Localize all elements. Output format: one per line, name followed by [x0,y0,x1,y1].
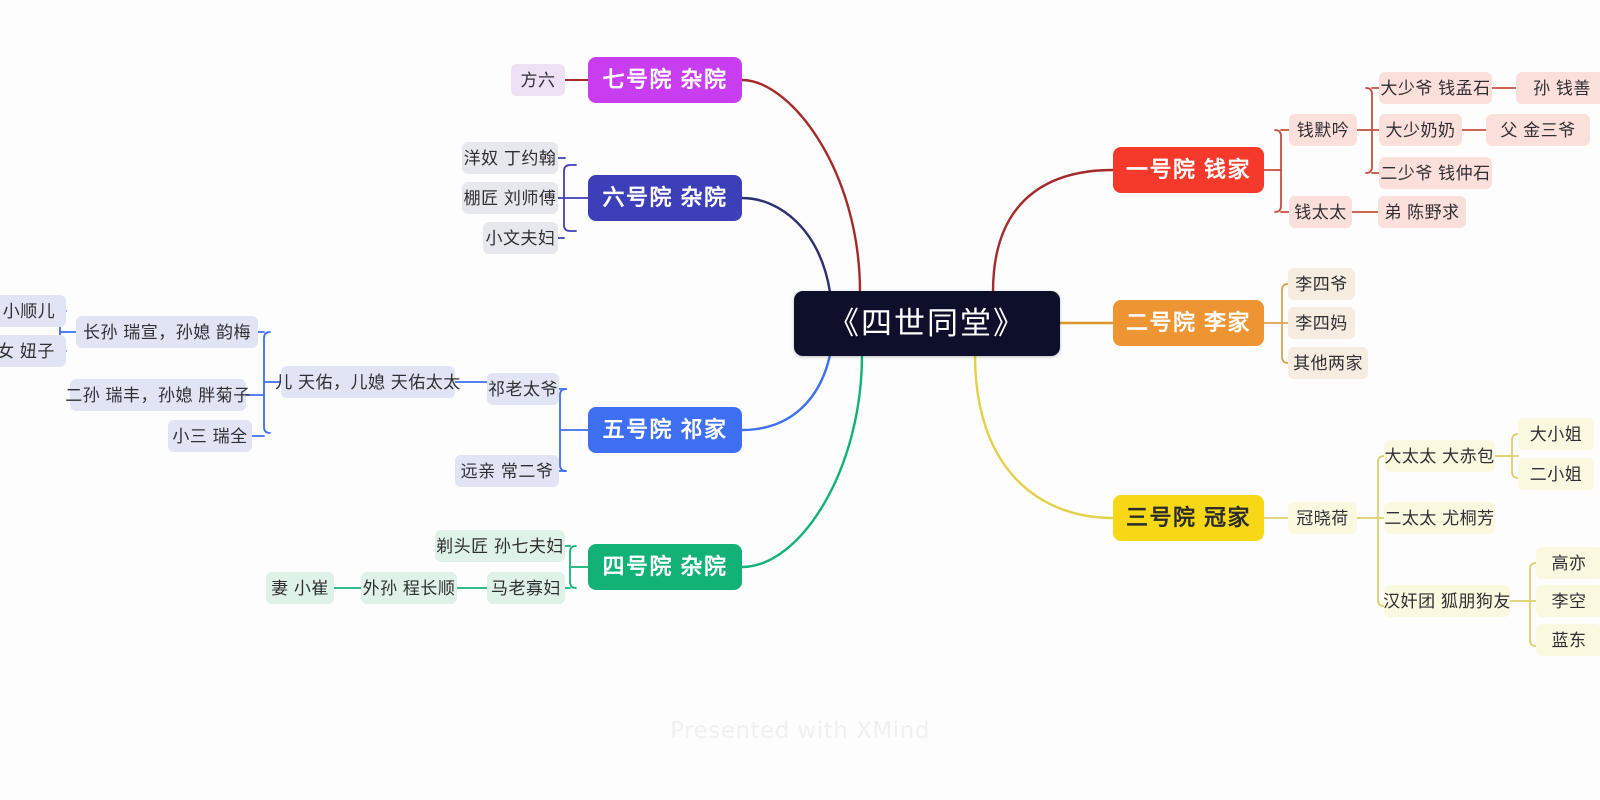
node-guan-xiaohe[interactable]: 冠晓荷 [1288,502,1357,534]
root-node[interactable]: 《四世同堂》 [794,291,1060,356]
node-chen-yeqiu[interactable]: 弟 陈野求 [1378,196,1466,228]
branch-courtyard-4[interactable]: 四号院 杂院 [588,544,742,590]
node-cheng-changshun[interactable]: 外孙 程长顺 [361,572,457,604]
mindmap-canvas: 《四世同堂》 七号院 杂院 方六 六号院 杂院 洋奴 丁约翰 棚匠 刘师傅 小文… [0,0,1600,800]
node-da-xiaojie[interactable]: 大小姐 [1518,418,1594,450]
node-qian-moyin[interactable]: 钱默吟 [1289,114,1357,146]
node-changerye[interactable]: 远亲 常二爷 [455,455,559,487]
node-hanjian-group[interactable]: 汉奸团 狐朋狗友 [1384,585,1510,617]
node-qian-taitai[interactable]: 钱太太 [1289,196,1352,228]
branch-courtyard-1[interactable]: 一号院 钱家 [1113,147,1264,193]
node-dachibao[interactable]: 大太太 大赤包 [1384,440,1495,472]
node-sunqi-couple[interactable]: 剃头匠 孙七夫妇 [435,530,565,562]
node-xiaowen-couple[interactable]: 小文夫妇 [483,222,558,254]
node-xiaoshuner[interactable]: 小顺儿 [0,295,66,327]
node-fangliu[interactable]: 方六 [511,64,565,96]
node-tianyou-couple[interactable]: 儿 天佑，儿媳 天佑太太 [281,366,455,398]
node-sun-qianshan[interactable]: 孙 钱善 [1516,72,1600,104]
node-li-kong[interactable]: 李空 [1536,585,1600,617]
node-ding-yuehan[interactable]: 洋奴 丁约翰 [462,142,558,174]
node-lan-dong[interactable]: 蓝东 [1536,624,1600,656]
node-li-sima[interactable]: 李四妈 [1288,307,1355,339]
branch-courtyard-6[interactable]: 六号院 杂院 [588,175,742,221]
node-qian-mengshi[interactable]: 大少爷 钱孟石 [1379,72,1492,104]
node-liu-shifu[interactable]: 棚匠 刘师傅 [462,182,558,214]
node-er-xiaojie[interactable]: 二小姐 [1518,458,1594,490]
node-qian-zhongshi[interactable]: 二少爷 钱仲石 [1379,157,1492,189]
node-xiaocui-wife[interactable]: 妻 小崔 [266,572,334,604]
branch-courtyard-7[interactable]: 七号院 杂院 [588,57,742,103]
node-ruixuan-yunmei[interactable]: 长孙 瑞宣，孙媳 韵梅 [76,316,258,348]
branch-courtyard-3[interactable]: 三号院 冠家 [1113,495,1264,541]
node-other-two-families[interactable]: 其他两家 [1288,347,1368,379]
node-gao-yi[interactable]: 高亦 [1536,547,1600,579]
node-jin-sanye[interactable]: 父 金三爷 [1486,114,1590,146]
node-malao-widow[interactable]: 马老寡妇 [487,572,565,604]
node-you-tongfang[interactable]: 二太太 尤桐芳 [1384,502,1495,534]
branch-courtyard-2[interactable]: 二号院 李家 [1113,300,1264,346]
node-qi-laotaiye[interactable]: 祁老太爷 [487,373,559,405]
node-li-siye[interactable]: 李四爷 [1288,268,1355,300]
node-dashao-nainai[interactable]: 大少奶奶 [1379,114,1462,146]
node-niuzi[interactable]: 女 妞子 [0,335,66,367]
node-ruiquan[interactable]: 小三 瑞全 [168,420,252,452]
branch-courtyard-5[interactable]: 五号院 祁家 [588,407,742,453]
node-ruifeng-pangjuzi[interactable]: 二孙 瑞丰，孙媳 胖菊子 [70,379,246,411]
xmind-watermark: Presented with XMind [0,718,1600,744]
